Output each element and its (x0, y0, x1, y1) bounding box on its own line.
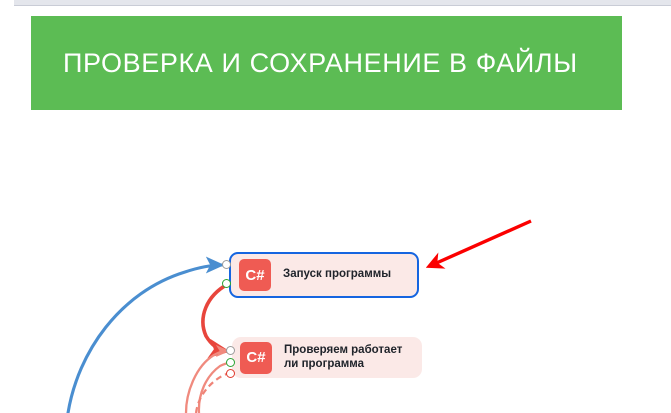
diagram-node-launch-program[interactable]: C# Запуск программы (229, 252, 419, 298)
port-check-grey[interactable] (226, 346, 235, 355)
diagram-canvas[interactable]: C# Запуск программы C# Проверяем работае… (0, 0, 671, 413)
node-label: Проверяем работает ли программа (284, 344, 402, 371)
diagram-node-check-program[interactable]: C# Проверяем работает ли программа (232, 337, 422, 378)
csharp-badge-icon: C# (240, 342, 272, 374)
csharp-badge-icon: C# (239, 259, 271, 291)
edge-return-salmon-2 (199, 363, 230, 413)
edge-return-salmon-1 (186, 351, 227, 413)
node-label: Запуск программы (283, 268, 391, 282)
port-launch-grey[interactable] (222, 260, 231, 269)
port-launch-green[interactable] (222, 279, 231, 288)
edge-return-salmon-dashed (196, 373, 231, 413)
edge-incoming-blue (68, 265, 222, 413)
port-check-green[interactable] (226, 358, 235, 367)
port-check-red[interactable] (226, 369, 235, 378)
red-pointer-arrow (432, 221, 531, 265)
edge-launch-to-check (203, 284, 228, 351)
